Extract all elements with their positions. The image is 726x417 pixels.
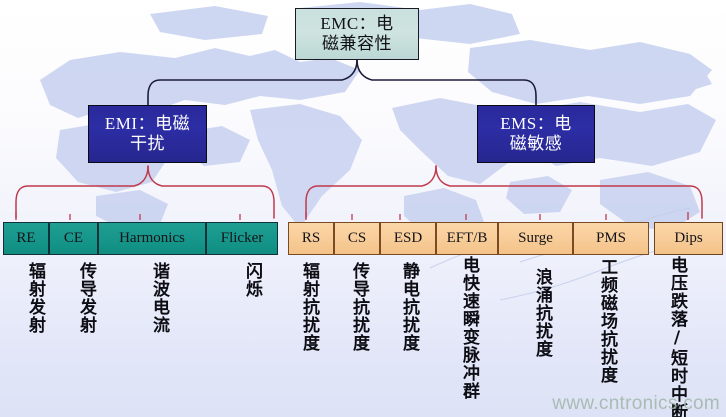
- node-emi[interactable]: EMI：电磁 干扰: [88, 105, 207, 163]
- diagram-canvas: EMC：电 磁兼容性 EMI：电磁 干扰 EMS：电 磁敏感 RE CE Har…: [0, 0, 726, 417]
- caption-esd: 静电抗扰度: [400, 262, 417, 352]
- caption-flicker: 闪烁: [243, 262, 260, 298]
- connector-lines: [0, 0, 726, 417]
- leaf-harmonics-label: Harmonics: [119, 230, 185, 247]
- node-emc-line2: 磁兼容性: [320, 34, 393, 54]
- node-ems-line2: 磁敏感: [500, 134, 571, 154]
- leaf-rs[interactable]: RS: [288, 222, 334, 255]
- caption-pms: 工频磁场抗扰度: [598, 258, 615, 384]
- emi-leaf-row: RE CE Harmonics Flicker: [3, 222, 278, 255]
- node-ems[interactable]: EMS：电 磁敏感: [477, 105, 595, 163]
- leaf-esd-label: ESD: [394, 230, 422, 247]
- leaf-ce-label: CE: [64, 230, 83, 247]
- leaf-harmonics[interactable]: Harmonics: [98, 222, 206, 255]
- leaf-flicker-label: Flicker: [221, 230, 264, 247]
- ems-stub-connector: [436, 163, 536, 179]
- leaf-eftb-label: EFT/B: [447, 230, 488, 247]
- node-emc-line1: EMC：电: [320, 14, 393, 34]
- node-ems-line1: EMS：电: [500, 114, 571, 134]
- leaf-dips[interactable]: Dips: [654, 222, 723, 255]
- node-emc[interactable]: EMC：电 磁兼容性: [295, 8, 419, 60]
- leaf-pms[interactable]: PMS: [573, 222, 649, 255]
- leaf-surge[interactable]: Surge: [498, 222, 573, 255]
- leaf-tick-marks: [16, 212, 688, 220]
- leaf-re[interactable]: RE: [3, 222, 49, 255]
- caption-cs: 传导抗扰度: [350, 262, 367, 352]
- leaf-esd[interactable]: ESD: [380, 222, 436, 255]
- emi-leaf-connector: [16, 166, 274, 218]
- node-emi-line1: EMI：电磁: [105, 114, 190, 134]
- caption-re: 辐射发射: [26, 262, 43, 334]
- caption-surge: 浪涌抗扰度: [533, 268, 550, 358]
- leaf-dips-label: Dips: [674, 230, 702, 247]
- leaf-eftb[interactable]: EFT/B: [436, 222, 498, 255]
- leaf-surge-label: Surge: [518, 230, 553, 247]
- caption-eftb: 电快速瞬变脉冲群: [460, 256, 477, 400]
- leaf-cs-label: CS: [348, 230, 366, 247]
- caption-ce: 传导发射: [77, 262, 94, 334]
- ems-leaf-row: RS CS ESD EFT/B Surge PMS: [288, 222, 649, 255]
- leaf-ce[interactable]: CE: [49, 222, 98, 255]
- caption-rs: 辐射抗扰度: [300, 262, 317, 352]
- node-emi-line2: 干扰: [105, 134, 190, 154]
- caption-harmonics: 谐波电流: [150, 262, 167, 334]
- leaf-rs-label: RS: [302, 230, 320, 247]
- caption-dips: 电压跌落/短时中断: [668, 256, 685, 417]
- leaf-re-label: RE: [16, 230, 35, 247]
- leaf-flicker[interactable]: Flicker: [206, 222, 278, 255]
- leaf-pms-label: PMS: [596, 230, 626, 247]
- leaf-cs[interactable]: CS: [334, 222, 380, 255]
- emc-branch-connector: [148, 60, 536, 105]
